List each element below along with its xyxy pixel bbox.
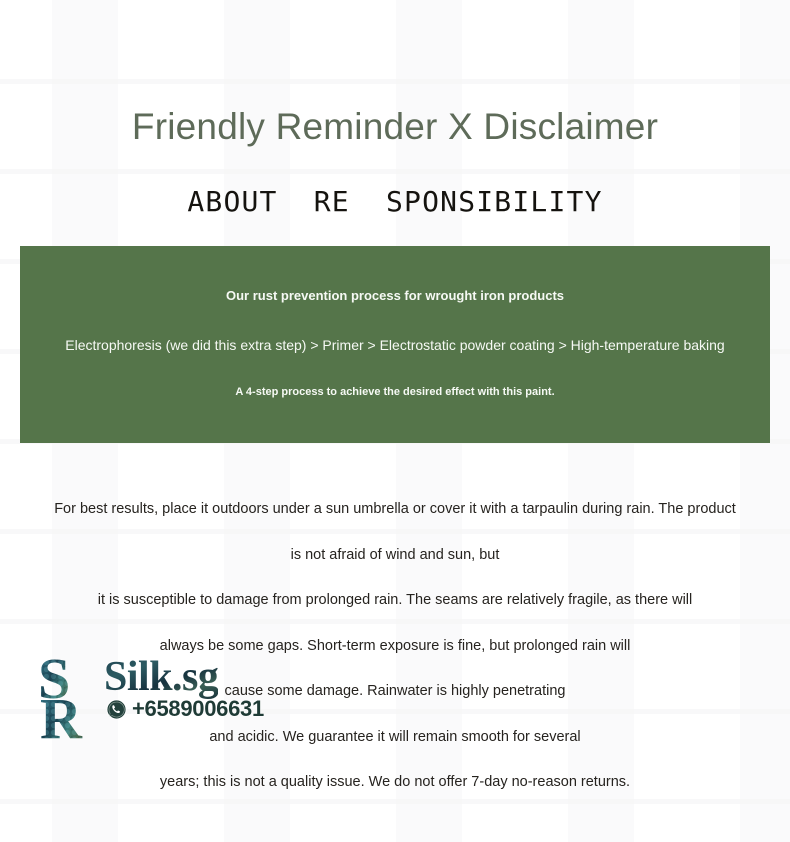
disclaimer-line: years; this is not a quality issue. We d… bbox=[0, 773, 790, 792]
disclaimer-line: cause some damage. Rainwater is highly p… bbox=[0, 682, 790, 701]
page-subtitle: ABOUT RE SPONSIBILITY bbox=[0, 184, 790, 220]
rust-prevention-banner: Our rust prevention process for wrought … bbox=[20, 246, 770, 443]
banner-heading: Our rust prevention process for wrought … bbox=[20, 287, 770, 304]
disclaimer-line: and acidic. We guarantee it will remain … bbox=[0, 728, 790, 747]
disclaimer-line: For best results, place it outdoors unde… bbox=[0, 500, 790, 519]
banner-process-steps: Electrophoresis (we did this extra step)… bbox=[20, 336, 770, 354]
disclaimer-line: is not afraid of wind and sun, but bbox=[0, 546, 790, 565]
disclaimer-page: Friendly Reminder X Disclaimer ABOUT RE … bbox=[0, 0, 790, 842]
disclaimer-body: For best results, place it outdoors unde… bbox=[0, 500, 790, 819]
disclaimer-line: it is susceptible to damage from prolong… bbox=[0, 591, 790, 610]
banner-note: A 4-step process to achieve the desired … bbox=[20, 385, 770, 400]
page-title: Friendly Reminder X Disclaimer bbox=[0, 104, 790, 150]
disclaimer-line: always be some gaps. Short-term exposure… bbox=[0, 637, 790, 656]
